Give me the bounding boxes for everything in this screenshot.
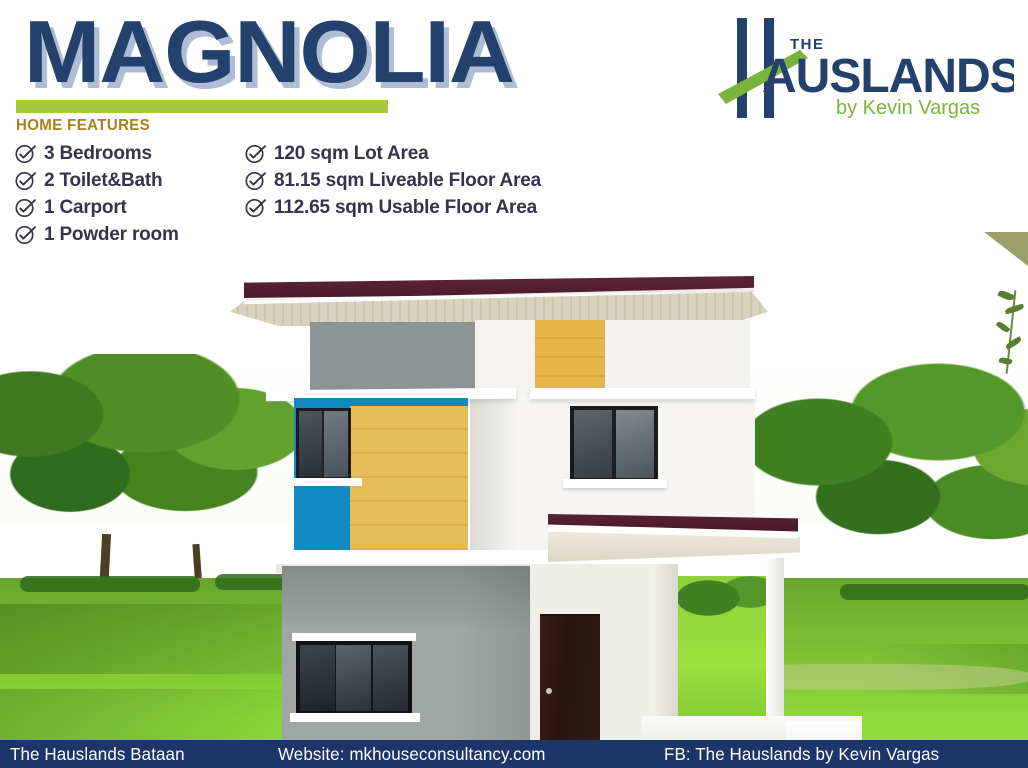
window-sill xyxy=(290,478,362,486)
title-underline-bar xyxy=(16,100,388,113)
feature-label: 2 Toilet&Bath xyxy=(44,170,162,192)
feature-label: 1 Carport xyxy=(44,197,127,219)
features-column-left: 3 Bedrooms 2 Toilet&Bath xyxy=(14,140,179,248)
feature-label: 3 Bedrooms xyxy=(44,143,152,165)
facade-shadow xyxy=(470,394,520,554)
footer-website[interactable]: Website: mkhouseconsultancy.com xyxy=(278,744,546,765)
flyer-canvas: MAGNOLIA HOME FEATURES THE AUSLANDS by K… xyxy=(0,0,1028,768)
hedge xyxy=(840,584,1028,600)
section-label-home-features: HOME FEATURES xyxy=(16,117,150,135)
corner-foliage-decoration xyxy=(984,232,1028,392)
corner-wedge-icon xyxy=(984,232,1028,266)
footer-bar: The Hauslands Bataan Website: mkhousecon… xyxy=(0,740,1028,768)
check-circle-icon xyxy=(244,170,268,192)
carport-post xyxy=(650,564,678,739)
window-header xyxy=(292,633,416,641)
feature-item: 2 Toilet&Bath xyxy=(14,167,179,194)
footer-location: The Hauslands Bataan xyxy=(10,744,185,765)
front-door xyxy=(540,614,600,750)
feature-item: 1 Carport xyxy=(14,194,179,221)
upper-wall-white xyxy=(475,320,535,394)
ground-sliding-window xyxy=(296,641,412,715)
yellow-accent-panel xyxy=(350,406,468,554)
page-title-wrap: MAGNOLIA xyxy=(24,4,495,100)
features-column-right: 120 sqm Lot Area 81.15 sqm Liveable Floo… xyxy=(244,140,541,221)
footer-facebook[interactable]: FB: The Hauslands by Kevin Vargas xyxy=(664,744,939,765)
window-sill xyxy=(290,713,420,722)
feature-item: 1 Powder room xyxy=(14,221,179,248)
feature-label: 81.15 sqm Liveable Floor Area xyxy=(274,170,541,192)
feature-item: 112.65 sqm Usable Floor Area xyxy=(244,194,541,221)
carport-background-trees xyxy=(678,576,770,628)
wall-shadow xyxy=(460,566,530,750)
check-circle-icon xyxy=(14,170,38,192)
page-title: MAGNOLIA xyxy=(24,4,514,100)
window-ledge xyxy=(530,388,755,399)
window-sill xyxy=(563,479,667,488)
check-circle-icon xyxy=(14,197,38,219)
hauslands-logo[interactable]: THE AUSLANDS by Kevin Vargas xyxy=(704,12,1014,120)
feature-label: 1 Powder room xyxy=(44,224,179,246)
door-knob-icon xyxy=(546,688,552,694)
svg-text:AUSLANDS: AUSLANDS xyxy=(762,50,1014,103)
upper-right-window xyxy=(570,406,658,482)
header: MAGNOLIA HOME FEATURES THE AUSLANDS by K… xyxy=(0,0,1028,132)
feature-item: 3 Bedrooms xyxy=(14,140,179,167)
upper-left-window xyxy=(296,408,351,480)
check-circle-icon xyxy=(244,143,268,165)
svg-text:by Kevin Vargas: by Kevin Vargas xyxy=(836,97,980,119)
feature-item: 120 sqm Lot Area xyxy=(244,140,541,167)
upper-wall-grey xyxy=(310,322,475,392)
model-house xyxy=(230,276,850,750)
upper-wall-white xyxy=(605,320,750,394)
hedge xyxy=(20,576,200,592)
feature-item: 81.15 sqm Liveable Floor Area xyxy=(244,167,541,194)
check-circle-icon xyxy=(14,143,38,165)
check-circle-icon xyxy=(14,224,38,246)
feature-label: 112.65 sqm Usable Floor Area xyxy=(274,197,537,219)
check-circle-icon xyxy=(244,197,268,219)
feature-label: 120 sqm Lot Area xyxy=(274,143,429,165)
upper-yellow-panel xyxy=(535,320,605,392)
